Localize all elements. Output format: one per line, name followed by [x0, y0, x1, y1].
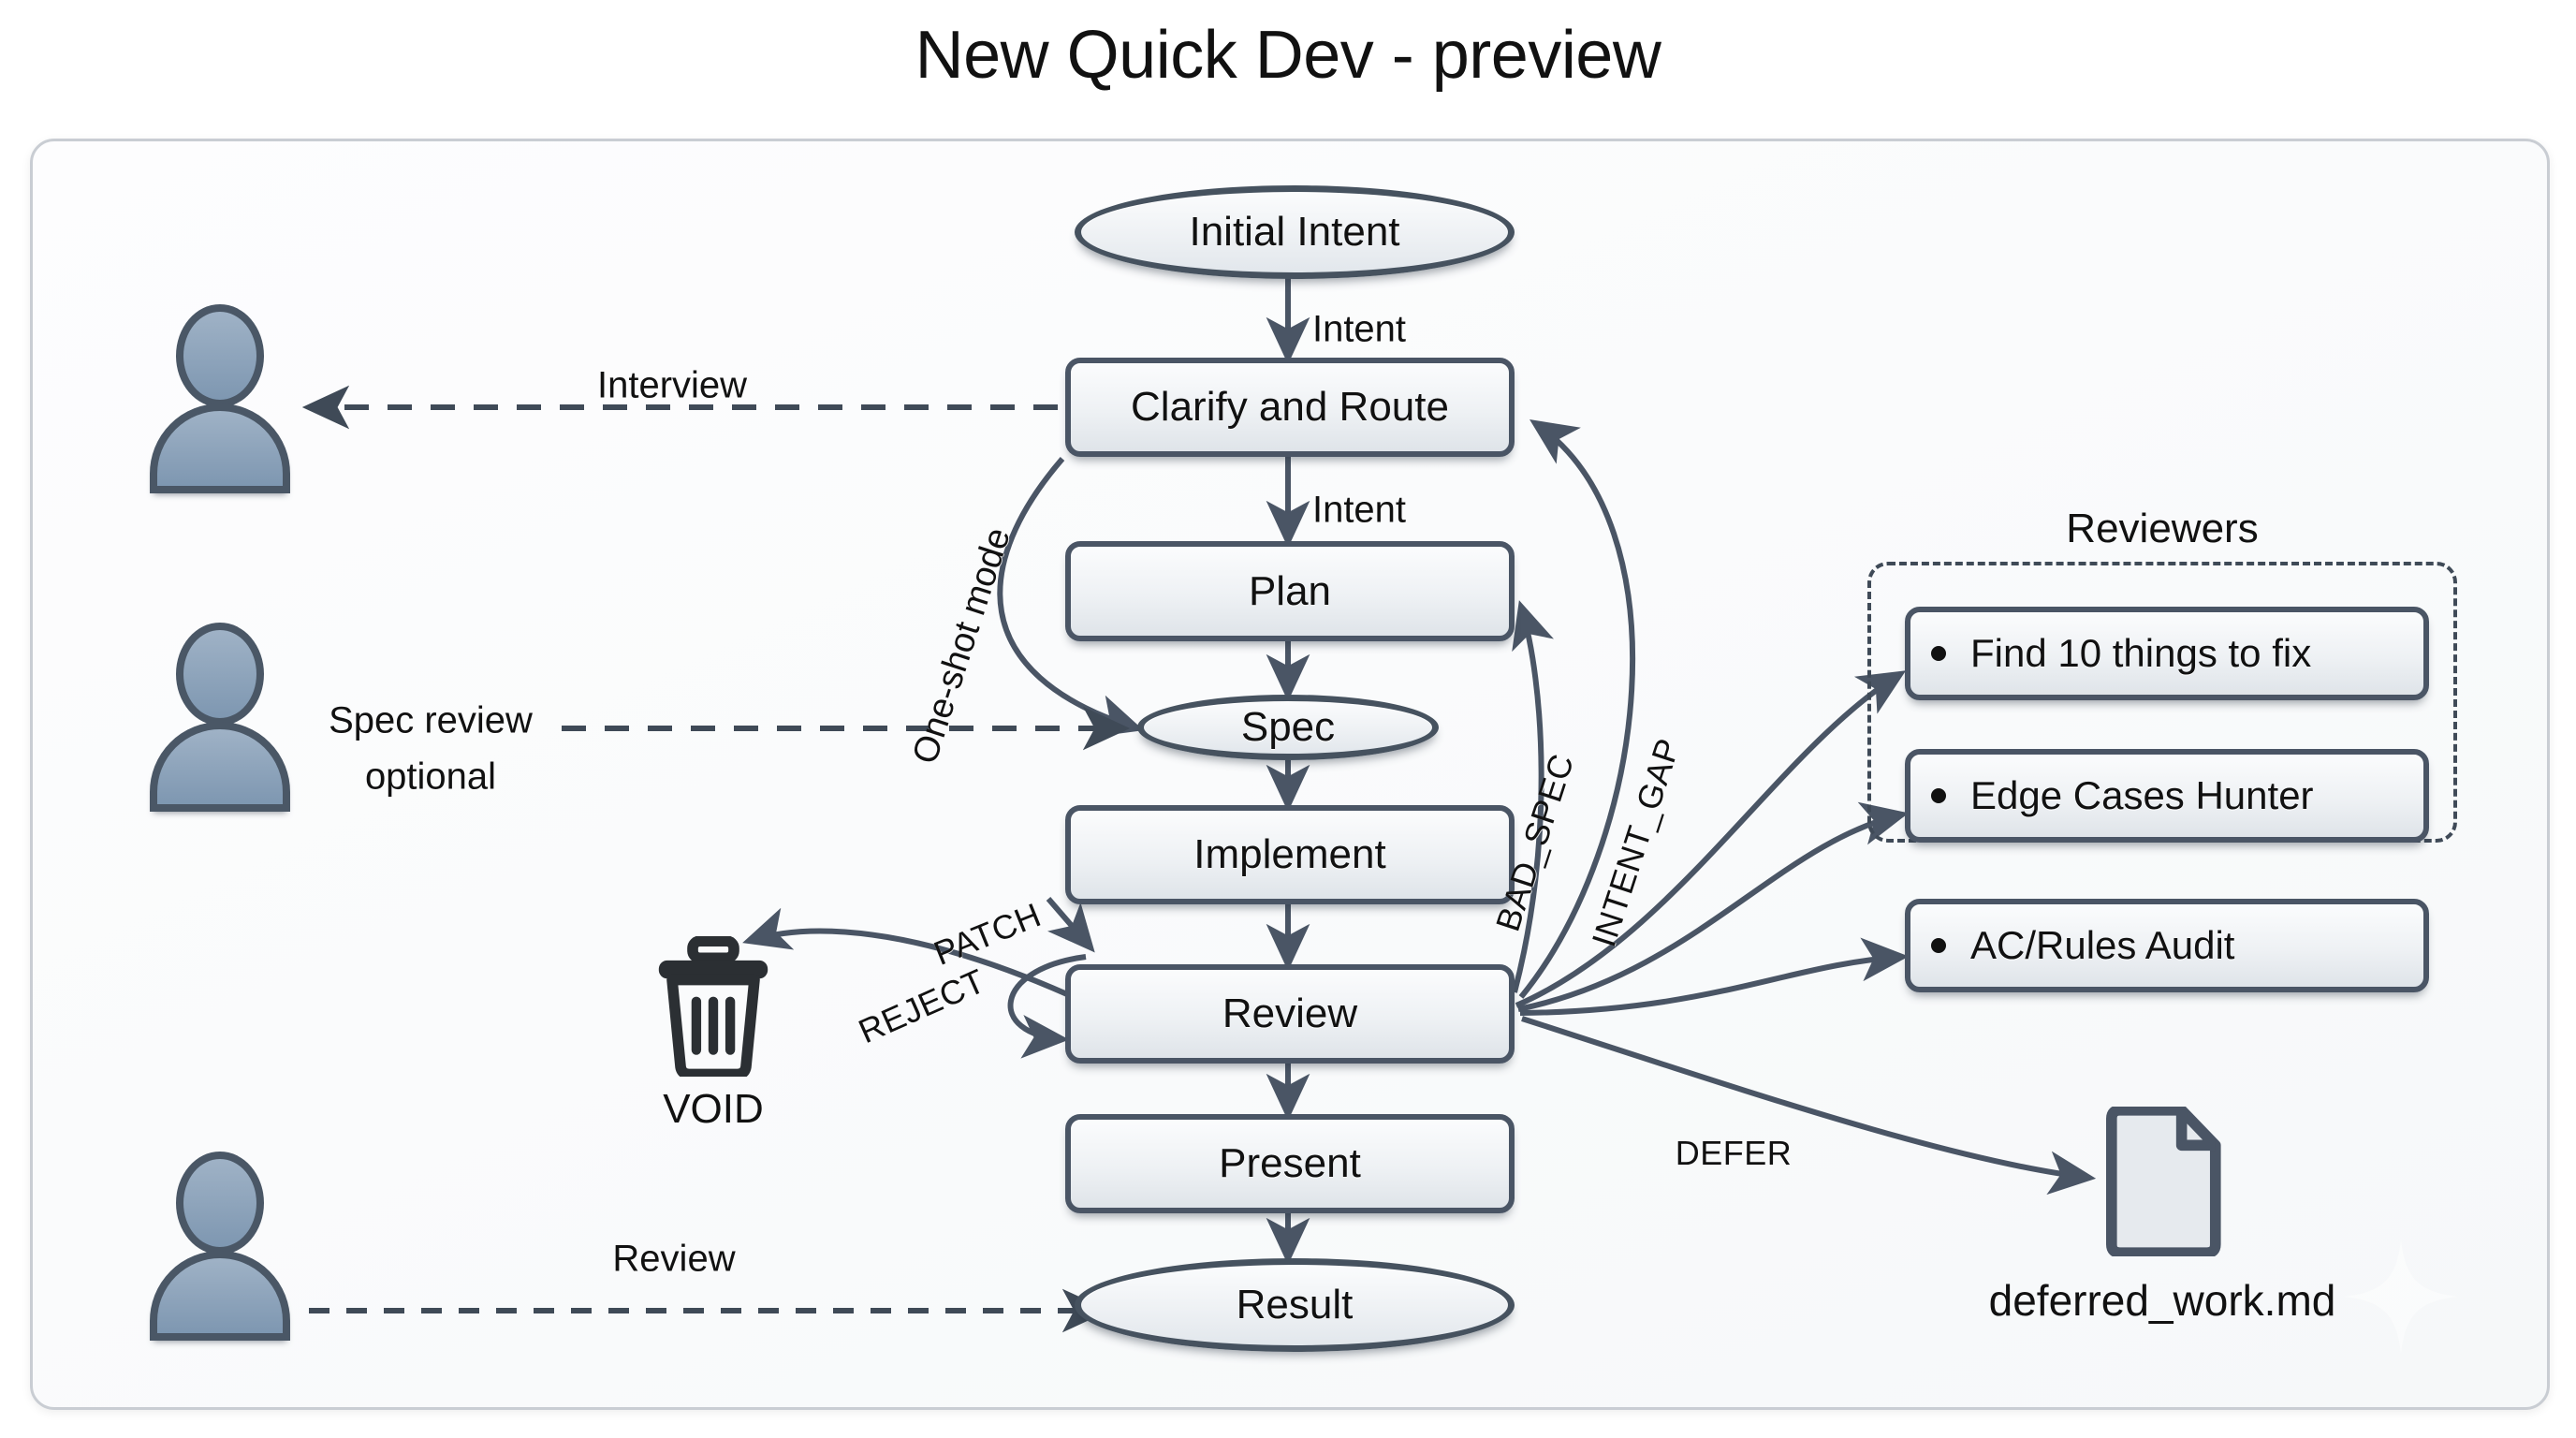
- reviewer-item-3[interactable]: AC/Rules Audit: [1905, 899, 2429, 992]
- file-icon: [2101, 1107, 2223, 1256]
- actor-spec-reviewer[interactable]: [150, 623, 290, 800]
- reviewer-item-3-label: AC/Rules Audit: [1970, 923, 2234, 968]
- page-title: New Quick Dev - preview: [0, 17, 2576, 94]
- node-initial-intent[interactable]: Initial Intent: [1075, 185, 1515, 279]
- node-result[interactable]: Result: [1075, 1258, 1515, 1352]
- actor-interviewee[interactable]: [150, 304, 290, 482]
- reviewer-item-1-label: Find 10 things to fix: [1970, 631, 2311, 676]
- actor-body-icon: [150, 1251, 290, 1341]
- bullet-icon: [1931, 646, 1946, 661]
- void-label: VOID: [652, 1086, 774, 1133]
- trash-icon: [652, 936, 774, 1077]
- bullet-icon: [1931, 788, 1946, 803]
- reviewer-item-1[interactable]: Find 10 things to fix: [1905, 607, 2429, 700]
- node-clarify-and-route[interactable]: Clarify and Route: [1065, 358, 1515, 457]
- actor-head-icon: [176, 304, 264, 407]
- node-spec[interactable]: Spec: [1137, 695, 1439, 760]
- node-review[interactable]: Review: [1065, 964, 1515, 1064]
- edge-label-result-review: Review: [612, 1239, 735, 1281]
- node-implement[interactable]: Implement: [1065, 805, 1515, 904]
- actor-result-reviewer[interactable]: [150, 1152, 290, 1329]
- edge-label-intent-2: Intent: [1312, 490, 1406, 532]
- edge-label-spec-review-line2: optional: [365, 756, 496, 799]
- node-plan[interactable]: Plan: [1065, 541, 1515, 641]
- deferred-file-label: deferred_work.md: [1928, 1275, 2396, 1326]
- bullet-icon: [1931, 938, 1946, 953]
- actor-head-icon: [176, 1152, 264, 1255]
- edge-label-defer: DEFER: [1676, 1134, 1793, 1173]
- actor-head-icon: [176, 623, 264, 726]
- actor-body-icon: [150, 404, 290, 493]
- reviewers-cluster-title: Reviewers: [1867, 506, 2457, 552]
- edge-label-spec-review-line1: Spec review: [329, 700, 533, 742]
- reviewer-item-2-label: Edge Cases Hunter: [1970, 773, 2314, 818]
- edge-label-interview: Interview: [597, 365, 747, 407]
- actor-body-icon: [150, 722, 290, 812]
- node-present[interactable]: Present: [1065, 1114, 1515, 1213]
- reviewer-item-2[interactable]: Edge Cases Hunter: [1905, 749, 2429, 843]
- edge-label-intent-1: Intent: [1312, 309, 1406, 351]
